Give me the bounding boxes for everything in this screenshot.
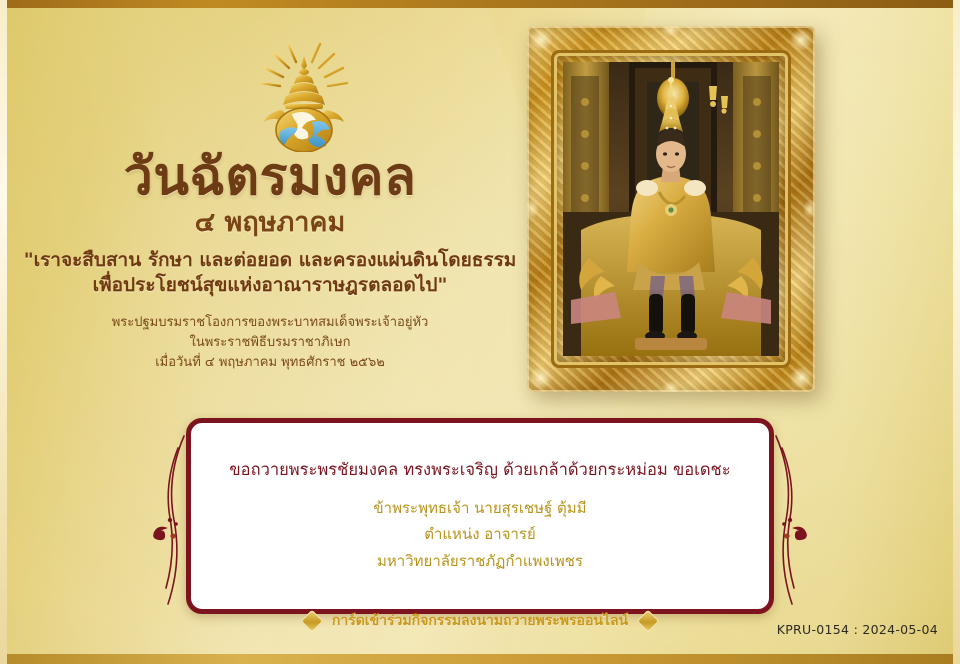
- card-border-bottom: [0, 654, 960, 664]
- card-border-right: [953, 0, 960, 664]
- commemoration-date: ๔ พฤษภาคม: [0, 207, 540, 238]
- quote-attribution: พระปฐมบรมราชโองการของพระบาทสมเด็จพระเจ้า…: [0, 313, 540, 373]
- headline-block: วันฉัตรมงคล ๔ พฤษภาคม "เราจะสืบสาน รักษา…: [0, 150, 540, 373]
- diamond-ornament-left-icon: [301, 610, 324, 633]
- signature-block: ข้าพระพุทธเจ้า นายสุรเชษฐ์ ตุ้มมี ตำแหน่…: [373, 495, 586, 574]
- royal-cypher-icon: [252, 34, 356, 152]
- blessing-panel: ขอถวายพระพรชัยมงคล ทรงพระเจริญ ด้วยเกล้า…: [186, 418, 774, 614]
- signature-name: ข้าพระพุทธเจ้า นายสุรเชษฐ์ ตุ้มมี: [373, 495, 586, 521]
- blessing-panel-content: ขอถวายพระพรชัยมงคล ทรงพระเจริญ ด้วยเกล้า…: [191, 423, 769, 609]
- royal-quote: "เราจะสืบสาน รักษา และต่อยอด และครองแผ่น…: [0, 248, 540, 299]
- royal-quote-line-1: "เราจะสืบสาน รักษา และต่อยอด และครองแผ่น…: [0, 248, 540, 274]
- attribution-line-2: ในพระราชพิธีบรมราชาภิเษก: [0, 333, 540, 353]
- diamond-ornament-right-icon: [637, 610, 660, 633]
- attribution-line-3: เมื่อวันที่ ๔ พฤษภาคม พุทธศักราช ๒๕๖๒: [0, 353, 540, 373]
- page-title: วันฉัตรมงคล: [0, 150, 540, 205]
- signature-position: ตำแหน่ง อาจารย์: [373, 521, 586, 547]
- footer-text: การ์ดเข้าร่วมกิจกรรมลงนามถวายพระพรออนไลน…: [332, 610, 628, 632]
- card-footer: การ์ดเข้าร่วมกิจกรรมลงนามถวายพระพรออนไลน…: [0, 600, 960, 654]
- royal-quote-line-2: เพื่อประโยชน์สุขแห่งอาณาราษฎรตลอดไป": [0, 273, 540, 299]
- card-reference-code: KPRU-0154 : 2024-05-04: [777, 622, 938, 637]
- portrait-frame: [527, 26, 815, 392]
- signature-organization: มหาวิทยาลัยราชภัฏกำแพงเพชร: [373, 548, 586, 574]
- blessing-text: ขอถวายพระพรชัยมงคล ทรงพระเจริญ ด้วยเกล้า…: [229, 458, 730, 481]
- card-border-top: [0, 0, 960, 8]
- royal-portrait-image: [563, 62, 779, 356]
- greeting-card: วันฉัตรมงคล ๔ พฤษภาคม "เราจะสืบสาน รักษา…: [0, 0, 960, 664]
- attribution-line-1: พระปฐมบรมราชโองการของพระบาทสมเด็จพระเจ้า…: [0, 313, 540, 333]
